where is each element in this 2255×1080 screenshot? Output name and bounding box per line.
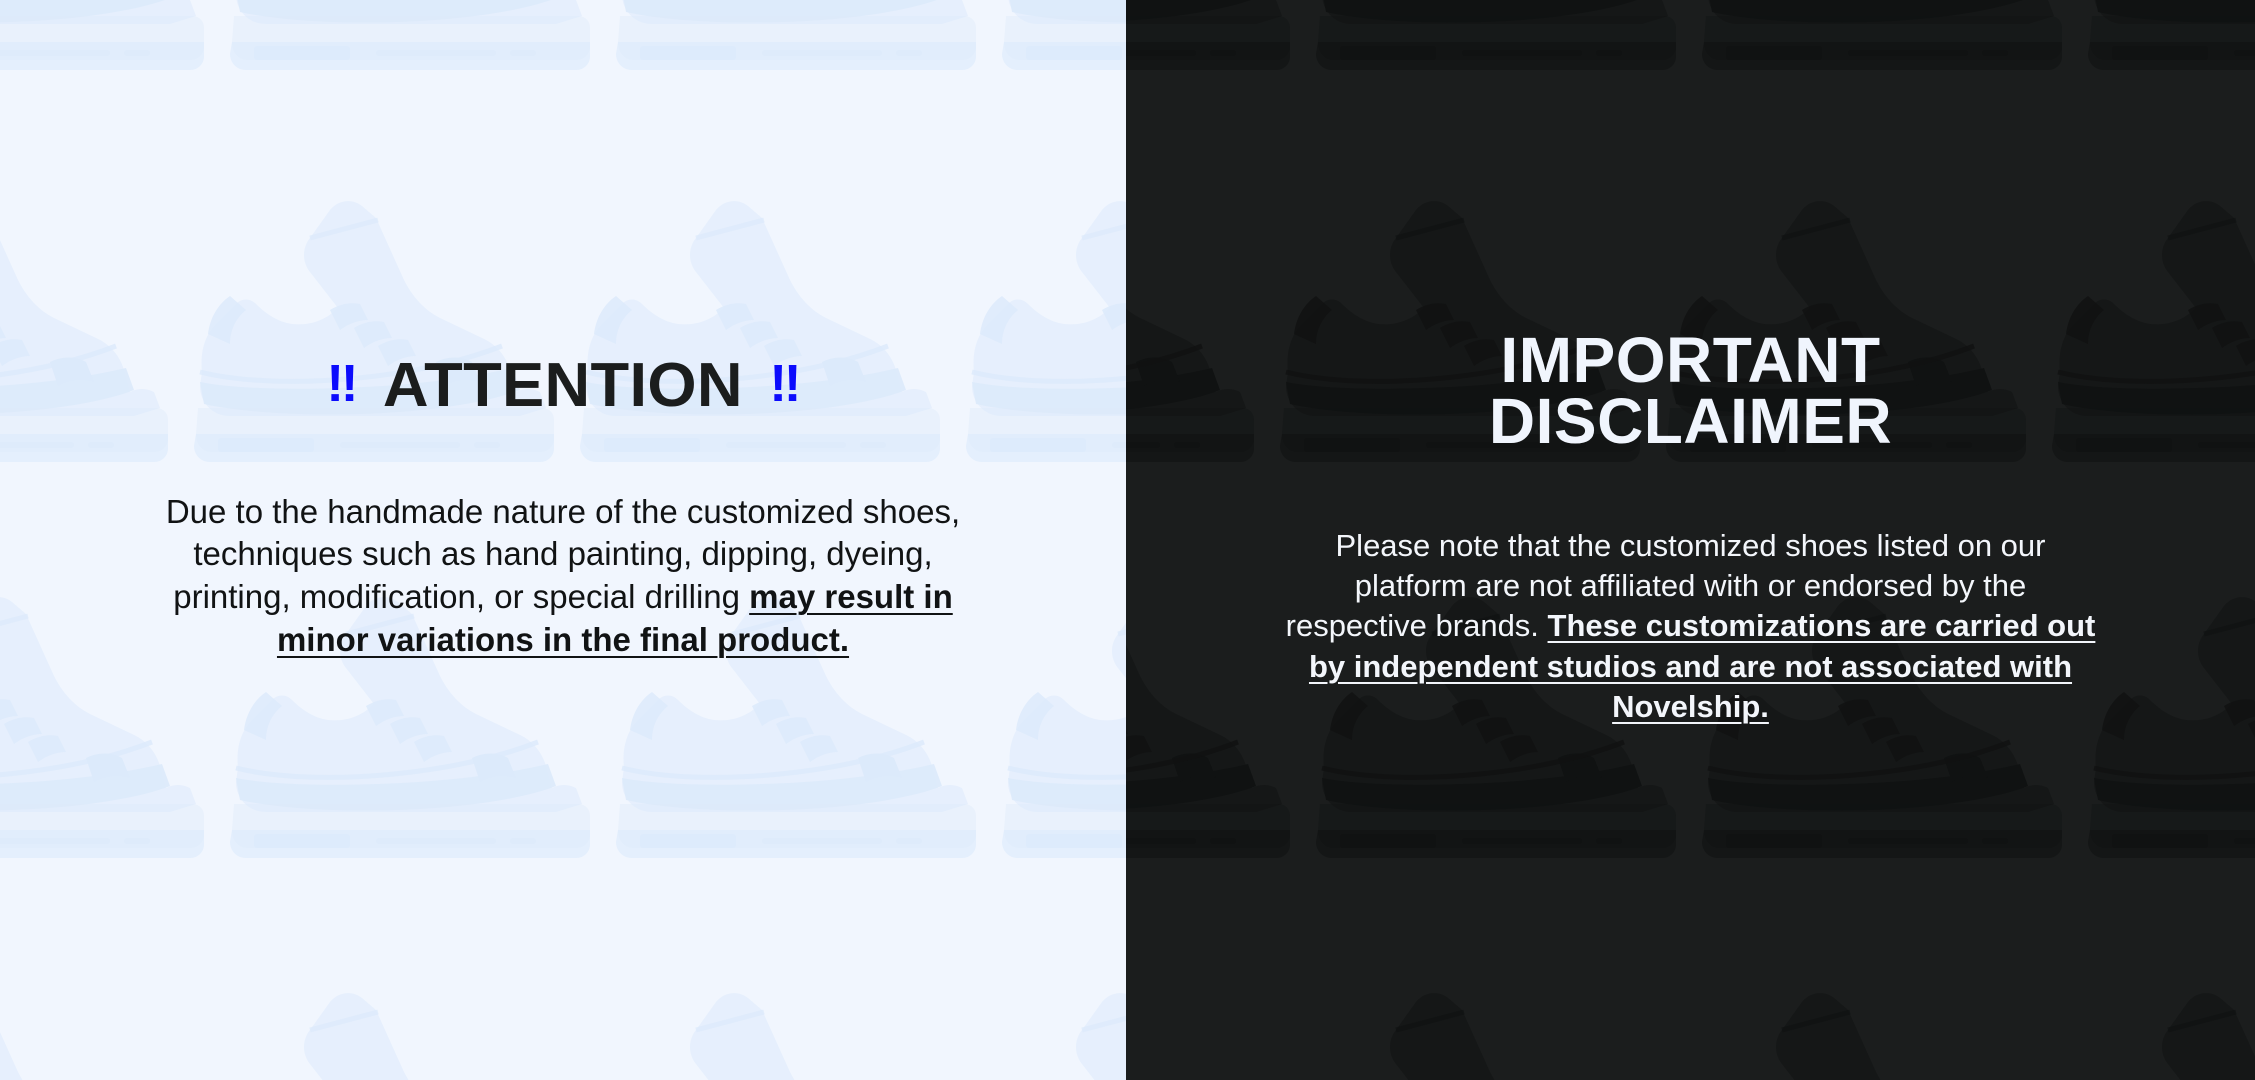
notice-banner: ‼ ATTENTION ‼ Due to the handmade nature… (0, 0, 2255, 1080)
double-exclamation-icon-left: ‼ (327, 358, 357, 410)
double-exclamation-icon-right: ‼ (769, 358, 799, 410)
attention-heading: ‼ ATTENTION ‼ (327, 355, 800, 417)
disclaimer-heading: IMPORTANT DISCLAIMER (1489, 330, 1892, 453)
attention-content: ‼ ATTENTION ‼ Due to the handmade nature… (0, 0, 1126, 1080)
disclaimer-body: Please note that the customized shoes li… (1281, 526, 2101, 727)
disclaimer-heading-line-1: IMPORTANT (1489, 330, 1892, 391)
attention-panel: ‼ ATTENTION ‼ Due to the handmade nature… (0, 0, 1126, 1080)
attention-body: Due to the handmade nature of the custom… (163, 491, 963, 663)
attention-heading-text: ATTENTION (383, 355, 743, 417)
disclaimer-panel: IMPORTANT DISCLAIMER Please note that th… (1126, 0, 2255, 1080)
disclaimer-content: IMPORTANT DISCLAIMER Please note that th… (1126, 0, 2255, 1080)
disclaimer-heading-line-2: DISCLAIMER (1489, 391, 1892, 452)
